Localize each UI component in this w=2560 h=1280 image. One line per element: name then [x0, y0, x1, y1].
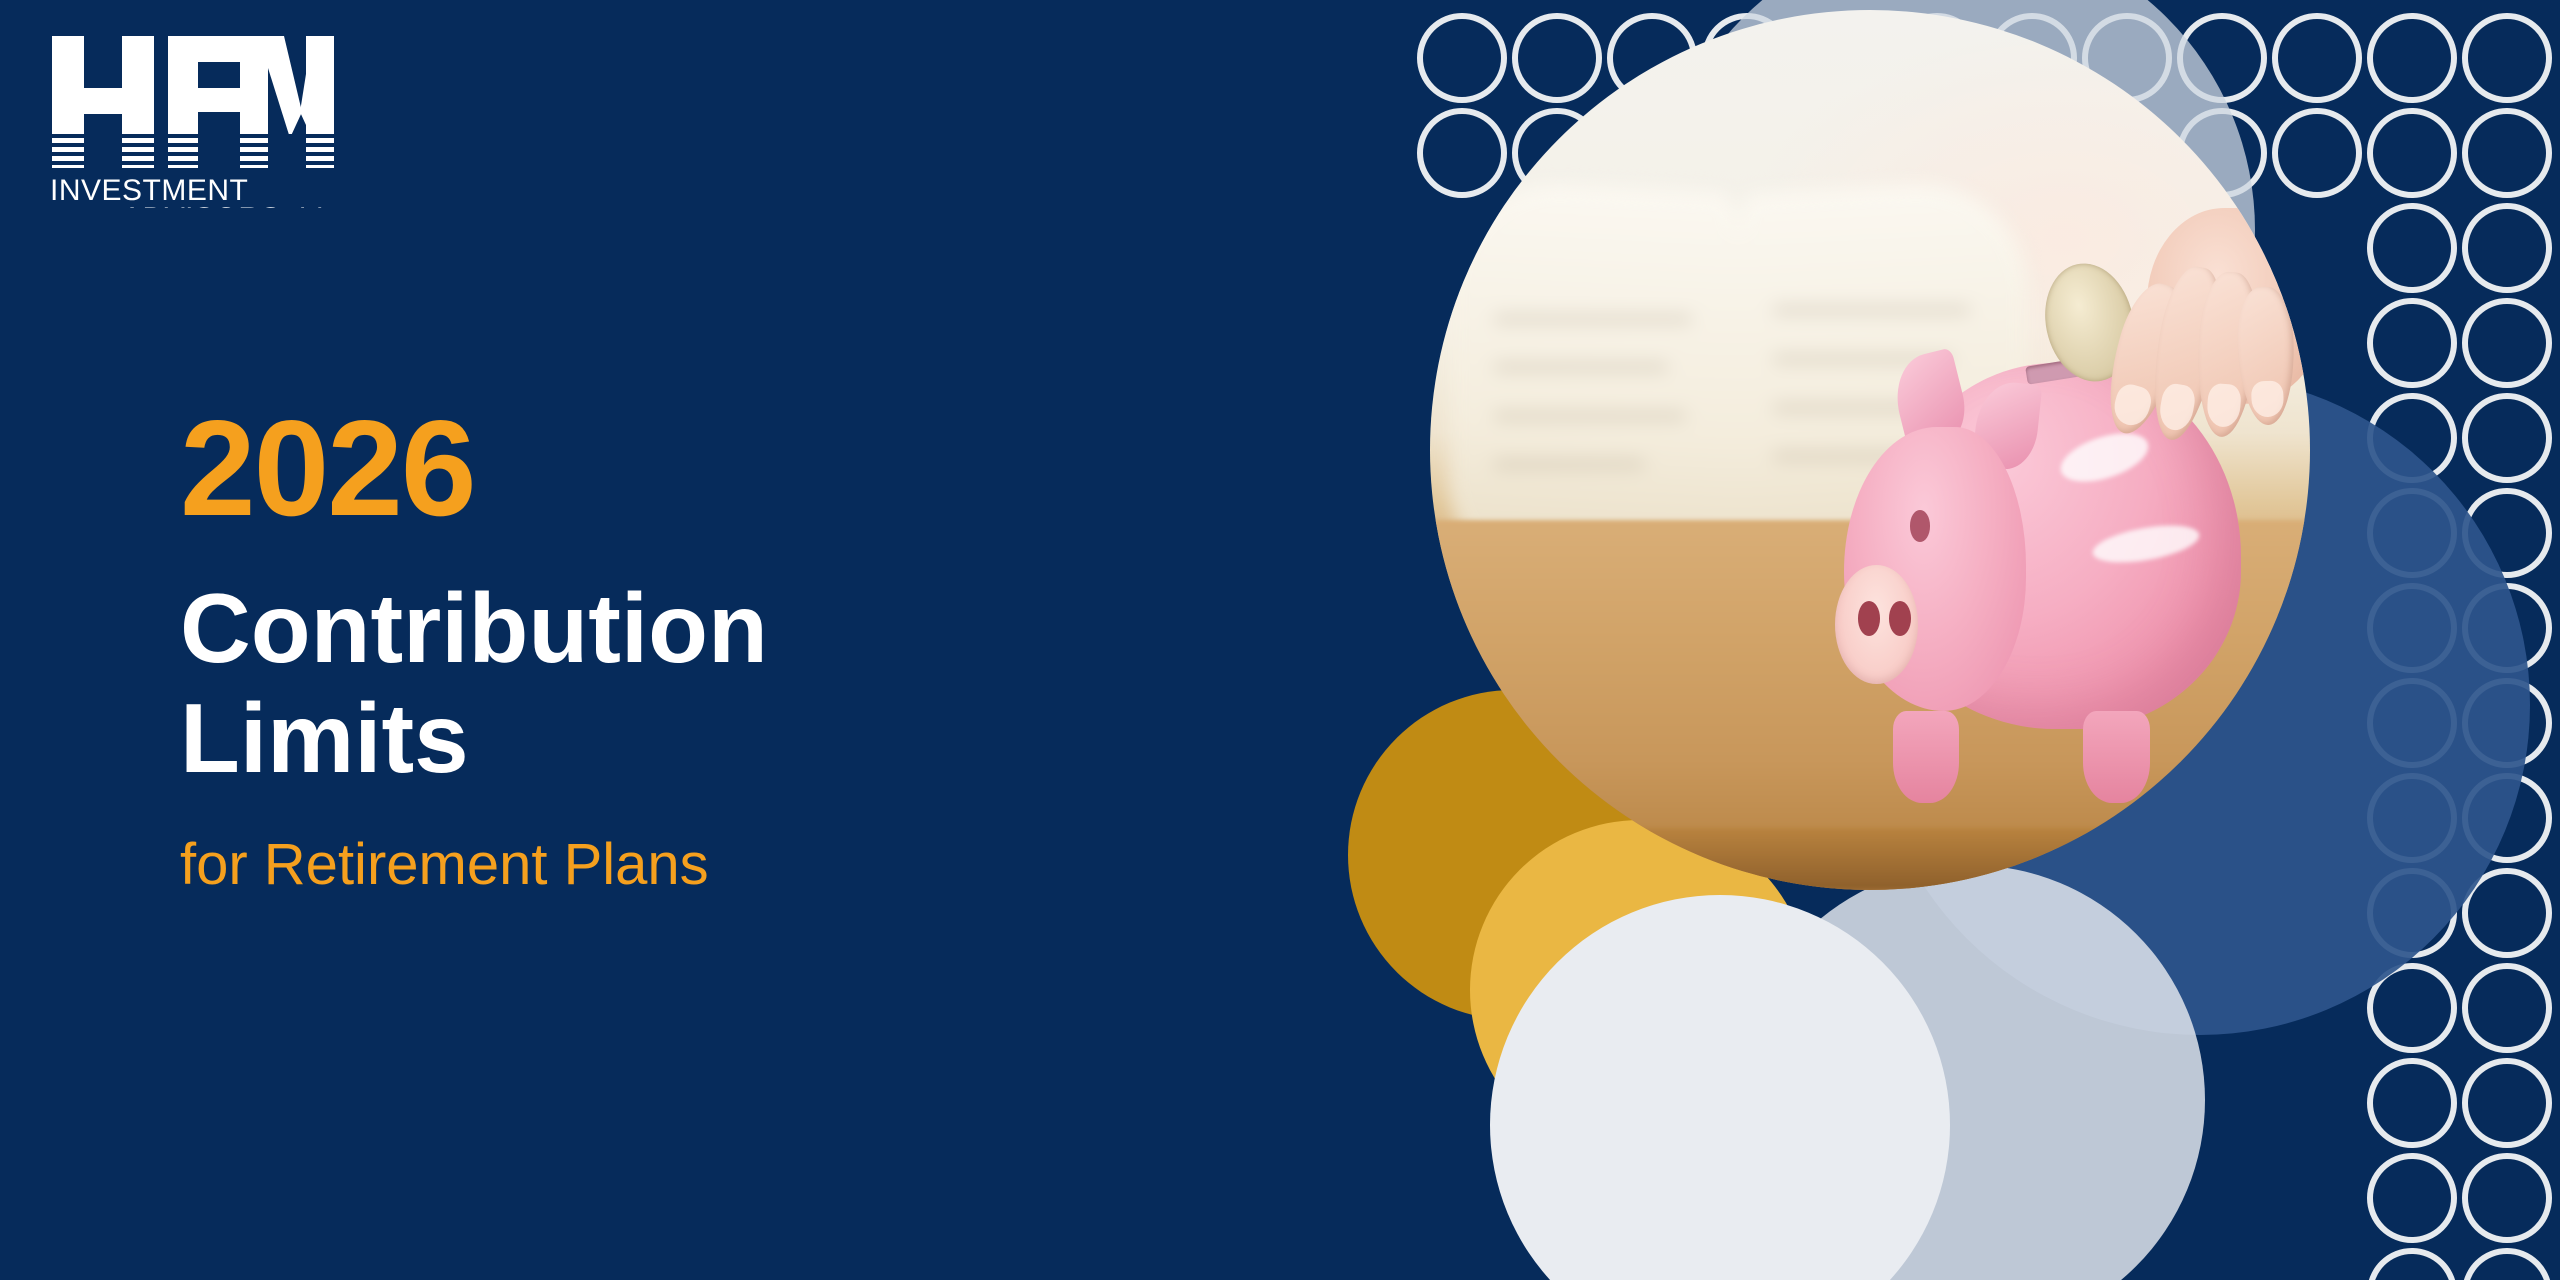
- piggy-bank-photo: [1430, 10, 2310, 890]
- title-line-2: Limits: [180, 684, 768, 794]
- piggy-bank-illustration: [1844, 327, 2258, 785]
- hfm-logo[interactable]: INVESTMENT ADVISORS, LLC: [44, 28, 334, 208]
- headline-block: 2026 Contribution Limits for Retirement …: [180, 400, 768, 894]
- subtitle: for Retirement Plans: [180, 836, 768, 894]
- hero-banner: INVESTMENT ADVISORS, LLC 2026 Contributi…: [0, 0, 2560, 1280]
- logo-line-advisors: ADVISORS, LLC: [122, 202, 334, 208]
- hand-illustration: [2092, 208, 2310, 473]
- year-heading: 2026: [180, 400, 768, 536]
- title-line-1: Contribution: [180, 574, 768, 684]
